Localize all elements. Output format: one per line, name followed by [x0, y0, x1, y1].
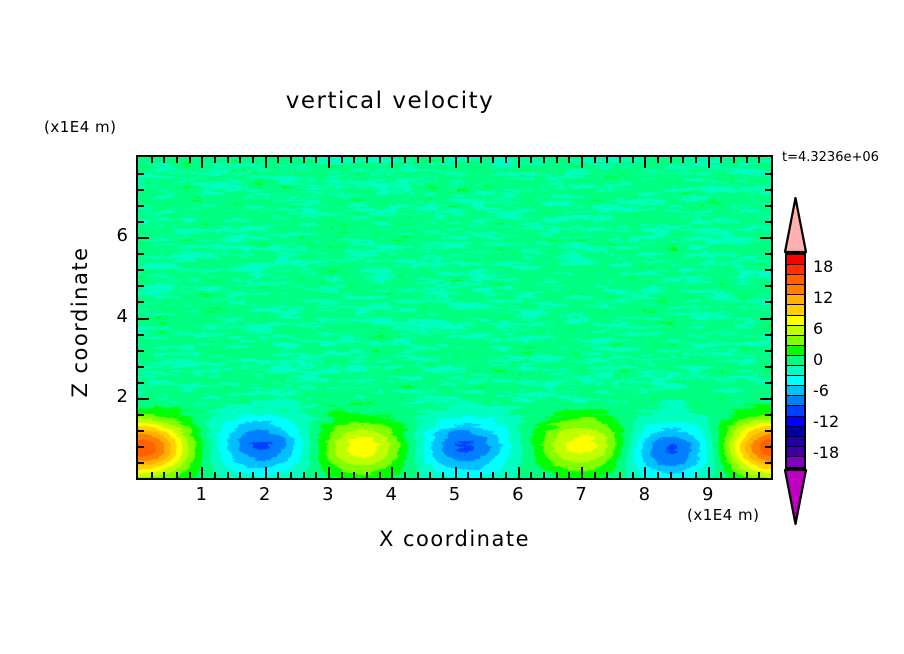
x-tick-bottom: [505, 472, 507, 478]
y-tick-right: [765, 253, 771, 255]
x-tick-top: [530, 157, 532, 163]
x-tick-bottom: [568, 472, 570, 478]
colorbar-band: [787, 326, 804, 336]
x-tick-top: [758, 157, 760, 163]
x-tick-top: [277, 157, 279, 163]
x-tick-bottom: [455, 467, 457, 478]
y-tick-right: [765, 446, 771, 448]
x-tick-top: [429, 157, 431, 163]
x-tick-top: [201, 157, 203, 168]
colorbar-cap-top-icon: [783, 196, 808, 254]
colorbar-tick-label: 6: [813, 319, 823, 338]
colorbar-band: [787, 427, 804, 437]
y-tick-right: [765, 334, 771, 336]
colorbar-band: [787, 255, 804, 265]
colorbar-band: [787, 417, 804, 427]
y-tick-left: [138, 462, 144, 464]
y-tick-left: [138, 269, 144, 271]
x-tick-bottom: [201, 467, 203, 478]
x-tick-top: [568, 157, 570, 163]
x-axis-unit-label: (x1E4 m): [687, 506, 760, 524]
y-tick-left: [138, 221, 144, 223]
x-tick-top: [594, 157, 596, 163]
x-tick-bottom: [429, 472, 431, 478]
x-tick-top: [480, 157, 482, 163]
x-tick-label: 8: [624, 484, 664, 505]
x-tick-top: [391, 157, 393, 168]
y-tick-right: [765, 285, 771, 287]
x-tick-bottom: [480, 472, 482, 478]
x-tick-bottom: [163, 472, 165, 478]
y-tick-left: [138, 334, 144, 336]
x-tick-top: [366, 157, 368, 163]
y-tick-left: [138, 205, 144, 207]
x-tick-top: [733, 157, 735, 163]
x-tick-bottom: [189, 472, 191, 478]
x-tick-top: [581, 157, 583, 168]
colorbar-band: [787, 366, 804, 376]
x-tick-top: [303, 157, 305, 163]
y-tick-left: [138, 398, 149, 400]
y-tick-right: [765, 382, 771, 384]
x-tick-bottom: [606, 472, 608, 478]
x-tick-label: 1: [181, 484, 221, 505]
x-tick-top: [417, 157, 419, 163]
x-tick-bottom: [594, 472, 596, 478]
x-tick-top: [163, 157, 165, 163]
colorbar-tick-label: 18: [813, 257, 833, 276]
colorbar-band: [787, 457, 804, 467]
y-tick-right: [765, 350, 771, 352]
x-tick-label: 6: [498, 484, 538, 505]
x-tick-label: 9: [688, 484, 728, 505]
x-tick-bottom: [733, 472, 735, 478]
x-tick-top: [682, 157, 684, 163]
x-tick-top: [227, 157, 229, 163]
x-tick-bottom: [176, 472, 178, 478]
colorbar-tick-label: 12: [813, 288, 833, 307]
y-tick-left: [138, 318, 149, 320]
x-tick-top: [695, 157, 697, 163]
x-tick-bottom: [252, 472, 254, 478]
x-tick-top: [404, 157, 406, 163]
x-tick-top: [670, 157, 672, 163]
x-tick-top: [606, 157, 608, 163]
x-tick-top: [189, 157, 191, 163]
x-tick-top: [315, 157, 317, 163]
colorbar-band: [787, 305, 804, 315]
colorbar-band: [787, 336, 804, 346]
x-tick-top: [353, 157, 355, 163]
y-tick-left: [138, 285, 144, 287]
page-title: vertical velocity: [0, 88, 780, 114]
x-tick-top: [239, 157, 241, 163]
y-tick-label: 2: [88, 386, 128, 407]
x-tick-top: [505, 157, 507, 163]
x-tick-top: [518, 157, 520, 168]
y-tick-right: [760, 398, 771, 400]
x-tick-top: [619, 157, 621, 163]
x-tick-bottom: [619, 472, 621, 478]
y-tick-right: [765, 366, 771, 368]
x-tick-bottom: [442, 472, 444, 478]
colorbar-band: [787, 437, 804, 447]
x-tick-bottom: [151, 472, 153, 478]
y-tick-right: [765, 189, 771, 191]
y-tick-left: [138, 350, 144, 352]
colorbar-band: [787, 275, 804, 285]
colorbar-band: [787, 356, 804, 366]
x-tick-bottom: [518, 467, 520, 478]
x-tick-bottom: [581, 467, 583, 478]
x-tick-bottom: [404, 472, 406, 478]
y-tick-left: [138, 301, 144, 303]
x-tick-label: 2: [245, 484, 285, 505]
colorbar-band: [787, 376, 804, 386]
x-tick-bottom: [492, 472, 494, 478]
x-tick-bottom: [353, 472, 355, 478]
x-tick-bottom: [632, 472, 634, 478]
y-tick-label: 6: [88, 225, 128, 246]
x-tick-bottom: [379, 472, 381, 478]
y-tick-left: [138, 382, 144, 384]
x-tick-bottom: [366, 472, 368, 478]
x-tick-bottom: [391, 467, 393, 478]
x-tick-label: 7: [561, 484, 601, 505]
colorbar-band: [787, 285, 804, 295]
x-tick-bottom: [556, 472, 558, 478]
x-tick-top: [708, 157, 710, 168]
x-tick-bottom: [227, 472, 229, 478]
y-tick-right: [765, 414, 771, 416]
y-tick-left: [138, 446, 144, 448]
x-tick-bottom: [695, 472, 697, 478]
x-tick-top: [214, 157, 216, 163]
x-tick-bottom: [530, 472, 532, 478]
x-tick-top: [632, 157, 634, 163]
x-tick-bottom: [341, 472, 343, 478]
contour-plot-area: [136, 155, 773, 480]
x-tick-top: [746, 157, 748, 163]
y-tick-label: 4: [88, 306, 128, 327]
x-tick-bottom: [543, 472, 545, 478]
y-tick-left: [138, 189, 144, 191]
x-tick-top: [252, 157, 254, 163]
y-tick-right: [765, 221, 771, 223]
x-tick-bottom: [214, 472, 216, 478]
x-tick-bottom: [290, 472, 292, 478]
x-tick-label: 5: [435, 484, 475, 505]
y-tick-left: [138, 173, 144, 175]
colorbar-band: [787, 386, 804, 396]
x-tick-bottom: [328, 467, 330, 478]
colorbar-cap-bottom-icon: [783, 468, 808, 526]
x-tick-bottom: [277, 472, 279, 478]
x-tick-top: [265, 157, 267, 168]
colorbar-band: [787, 295, 804, 305]
y-tick-left: [138, 414, 144, 416]
x-tick-bottom: [467, 472, 469, 478]
x-tick-label: 4: [371, 484, 411, 505]
x-tick-bottom: [315, 472, 317, 478]
y-tick-right: [765, 430, 771, 432]
x-tick-bottom: [720, 472, 722, 478]
y-tick-right: [765, 173, 771, 175]
time-stamp-label: t=4.3236e+06: [782, 150, 879, 165]
x-tick-bottom: [670, 472, 672, 478]
x-tick-top: [543, 157, 545, 163]
x-tick-top: [492, 157, 494, 163]
x-tick-label: 3: [308, 484, 348, 505]
colorbar-tick-label: -12: [813, 412, 839, 431]
y-tick-left: [138, 237, 149, 239]
x-tick-bottom: [644, 467, 646, 478]
colorbar-tick-label: 0: [813, 350, 823, 369]
x-tick-top: [328, 157, 330, 168]
x-tick-top: [657, 157, 659, 163]
y-tick-left: [138, 366, 144, 368]
x-axis-title: X coordinate: [136, 527, 773, 551]
colorbar-band: [787, 316, 804, 326]
x-tick-top: [720, 157, 722, 163]
contour-field: [138, 157, 771, 478]
colorbar-tick-label: -6: [813, 381, 829, 400]
x-tick-top: [644, 157, 646, 168]
x-tick-bottom: [746, 472, 748, 478]
colorbar-tick-label: -18: [813, 443, 839, 462]
x-tick-top: [176, 157, 178, 163]
colorbar-band: [787, 396, 804, 406]
x-tick-top: [341, 157, 343, 163]
x-tick-bottom: [708, 467, 710, 478]
x-tick-top: [455, 157, 457, 168]
y-tick-left: [138, 253, 144, 255]
y-tick-right: [760, 237, 771, 239]
x-tick-bottom: [657, 472, 659, 478]
x-tick-top: [379, 157, 381, 163]
colorbar-band: [787, 265, 804, 275]
x-tick-top: [442, 157, 444, 163]
x-tick-bottom: [417, 472, 419, 478]
y-axis-unit-label: (x1E4 m): [44, 118, 117, 136]
x-tick-top: [290, 157, 292, 163]
x-tick-top: [151, 157, 153, 163]
colorbar-band: [787, 406, 804, 416]
x-tick-top: [556, 157, 558, 163]
y-tick-right: [765, 462, 771, 464]
x-tick-bottom: [682, 472, 684, 478]
colorbar-band: [787, 447, 804, 457]
x-tick-bottom: [303, 472, 305, 478]
y-tick-left: [138, 430, 144, 432]
y-tick-right: [765, 301, 771, 303]
y-tick-right: [765, 205, 771, 207]
colorbar-band: [787, 346, 804, 356]
x-tick-top: [467, 157, 469, 163]
x-tick-bottom: [239, 472, 241, 478]
y-tick-right: [760, 318, 771, 320]
y-tick-right: [765, 269, 771, 271]
x-tick-bottom: [265, 467, 267, 478]
x-tick-bottom: [758, 472, 760, 478]
colorbar: [785, 253, 806, 469]
